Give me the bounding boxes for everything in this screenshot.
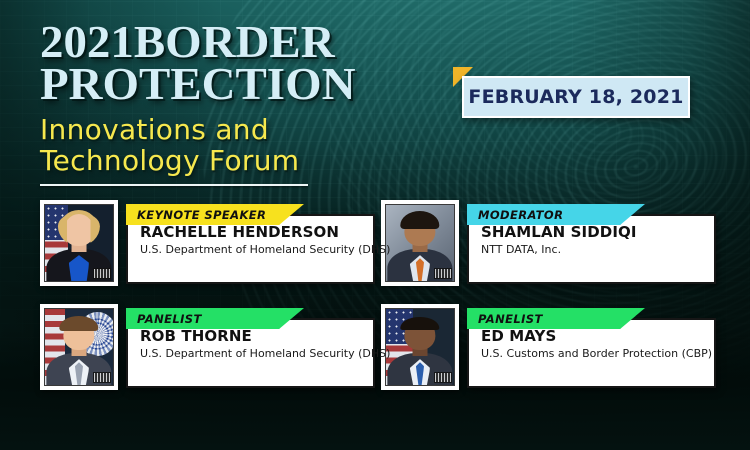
portrait-rob-thorne	[44, 308, 114, 386]
portrait-shamlan-siddiqi	[385, 204, 455, 282]
speaker-role-banner: PANELIST	[467, 308, 645, 329]
event-subtitle-line-2: Technology Forum	[40, 145, 470, 176]
speaker-details: ROB THORNE U.S. Department of Homeland S…	[140, 328, 367, 360]
speaker-role-label: PANELIST	[467, 312, 543, 326]
speaker-role-banner: MODERATOR	[467, 204, 645, 225]
speaker-organization: U.S. Customs and Border Protection (CBP)	[481, 347, 708, 360]
speaker-card: MODERATOR SHAMLAN SIDDIQI NTT DATA, Inc.	[381, 200, 716, 288]
speaker-card-body: PANELIST ED MAYS U.S. Customs and Border…	[467, 304, 716, 392]
speaker-details: SHAMLAN SIDDIQI NTT DATA, Inc.	[481, 224, 708, 256]
event-promo-banner: 2021BORDER PROTECTION Innovations and Te…	[0, 0, 750, 450]
speaker-name: RACHELLE HENDERSON	[140, 224, 367, 241]
speaker-name: ED MAYS	[481, 328, 708, 345]
speaker-card: PANELIST ED MAYS U.S. Customs and Border…	[381, 304, 716, 392]
event-date-badge: FEBRUARY 18, 2021	[462, 76, 690, 118]
photo-watermark-icon	[93, 372, 111, 383]
speaker-card: PANELIST ROB THORNE U.S. Department of H…	[40, 304, 375, 392]
speaker-card-grid: KEYNOTE SPEAKER RACHELLE HENDERSON U.S. …	[40, 200, 716, 392]
speaker-card-body: MODERATOR SHAMLAN SIDDIQI NTT DATA, Inc.	[467, 200, 716, 288]
speaker-organization: U.S. Department of Homeland Security (DH…	[140, 243, 367, 256]
photo-watermark-icon	[434, 372, 452, 383]
headline-block: 2021BORDER PROTECTION Innovations and Te…	[40, 22, 470, 186]
portrait-rachelle-henderson	[44, 204, 114, 282]
speaker-card-body: PANELIST ROB THORNE U.S. Department of H…	[126, 304, 375, 392]
speaker-organization: NTT DATA, Inc.	[481, 243, 708, 256]
speaker-card-body: KEYNOTE SPEAKER RACHELLE HENDERSON U.S. …	[126, 200, 375, 288]
speaker-details: ED MAYS U.S. Customs and Border Protecti…	[481, 328, 708, 360]
speaker-name: ROB THORNE	[140, 328, 367, 345]
date-badge-box: FEBRUARY 18, 2021	[462, 76, 690, 118]
headline-divider	[40, 184, 308, 186]
speaker-photo-frame	[381, 304, 459, 390]
photo-watermark-icon	[434, 268, 452, 279]
speaker-name: SHAMLAN SIDDIQI	[481, 224, 708, 241]
event-title-line-2: PROTECTION	[40, 64, 479, 104]
event-subtitle-line-1: Innovations and	[40, 114, 470, 145]
speaker-organization: U.S. Department of Homeland Security (DH…	[140, 347, 367, 360]
speaker-card: KEYNOTE SPEAKER RACHELLE HENDERSON U.S. …	[40, 200, 375, 288]
speaker-photo-frame	[381, 200, 459, 286]
portrait-ed-mays	[385, 308, 455, 386]
speaker-role-label: PANELIST	[126, 312, 202, 326]
speaker-role-banner: PANELIST	[126, 308, 304, 329]
event-date-label: FEBRUARY 18, 2021	[468, 86, 683, 108]
speaker-role-banner: KEYNOTE SPEAKER	[126, 204, 304, 225]
speaker-role-label: KEYNOTE SPEAKER	[126, 208, 266, 222]
speaker-photo-frame	[40, 200, 118, 286]
speaker-photo-frame	[40, 304, 118, 390]
speaker-details: RACHELLE HENDERSON U.S. Department of Ho…	[140, 224, 367, 256]
speaker-role-label: MODERATOR	[467, 208, 563, 222]
event-title-line-1: 2021BORDER	[40, 22, 479, 62]
photo-watermark-icon	[93, 268, 111, 279]
